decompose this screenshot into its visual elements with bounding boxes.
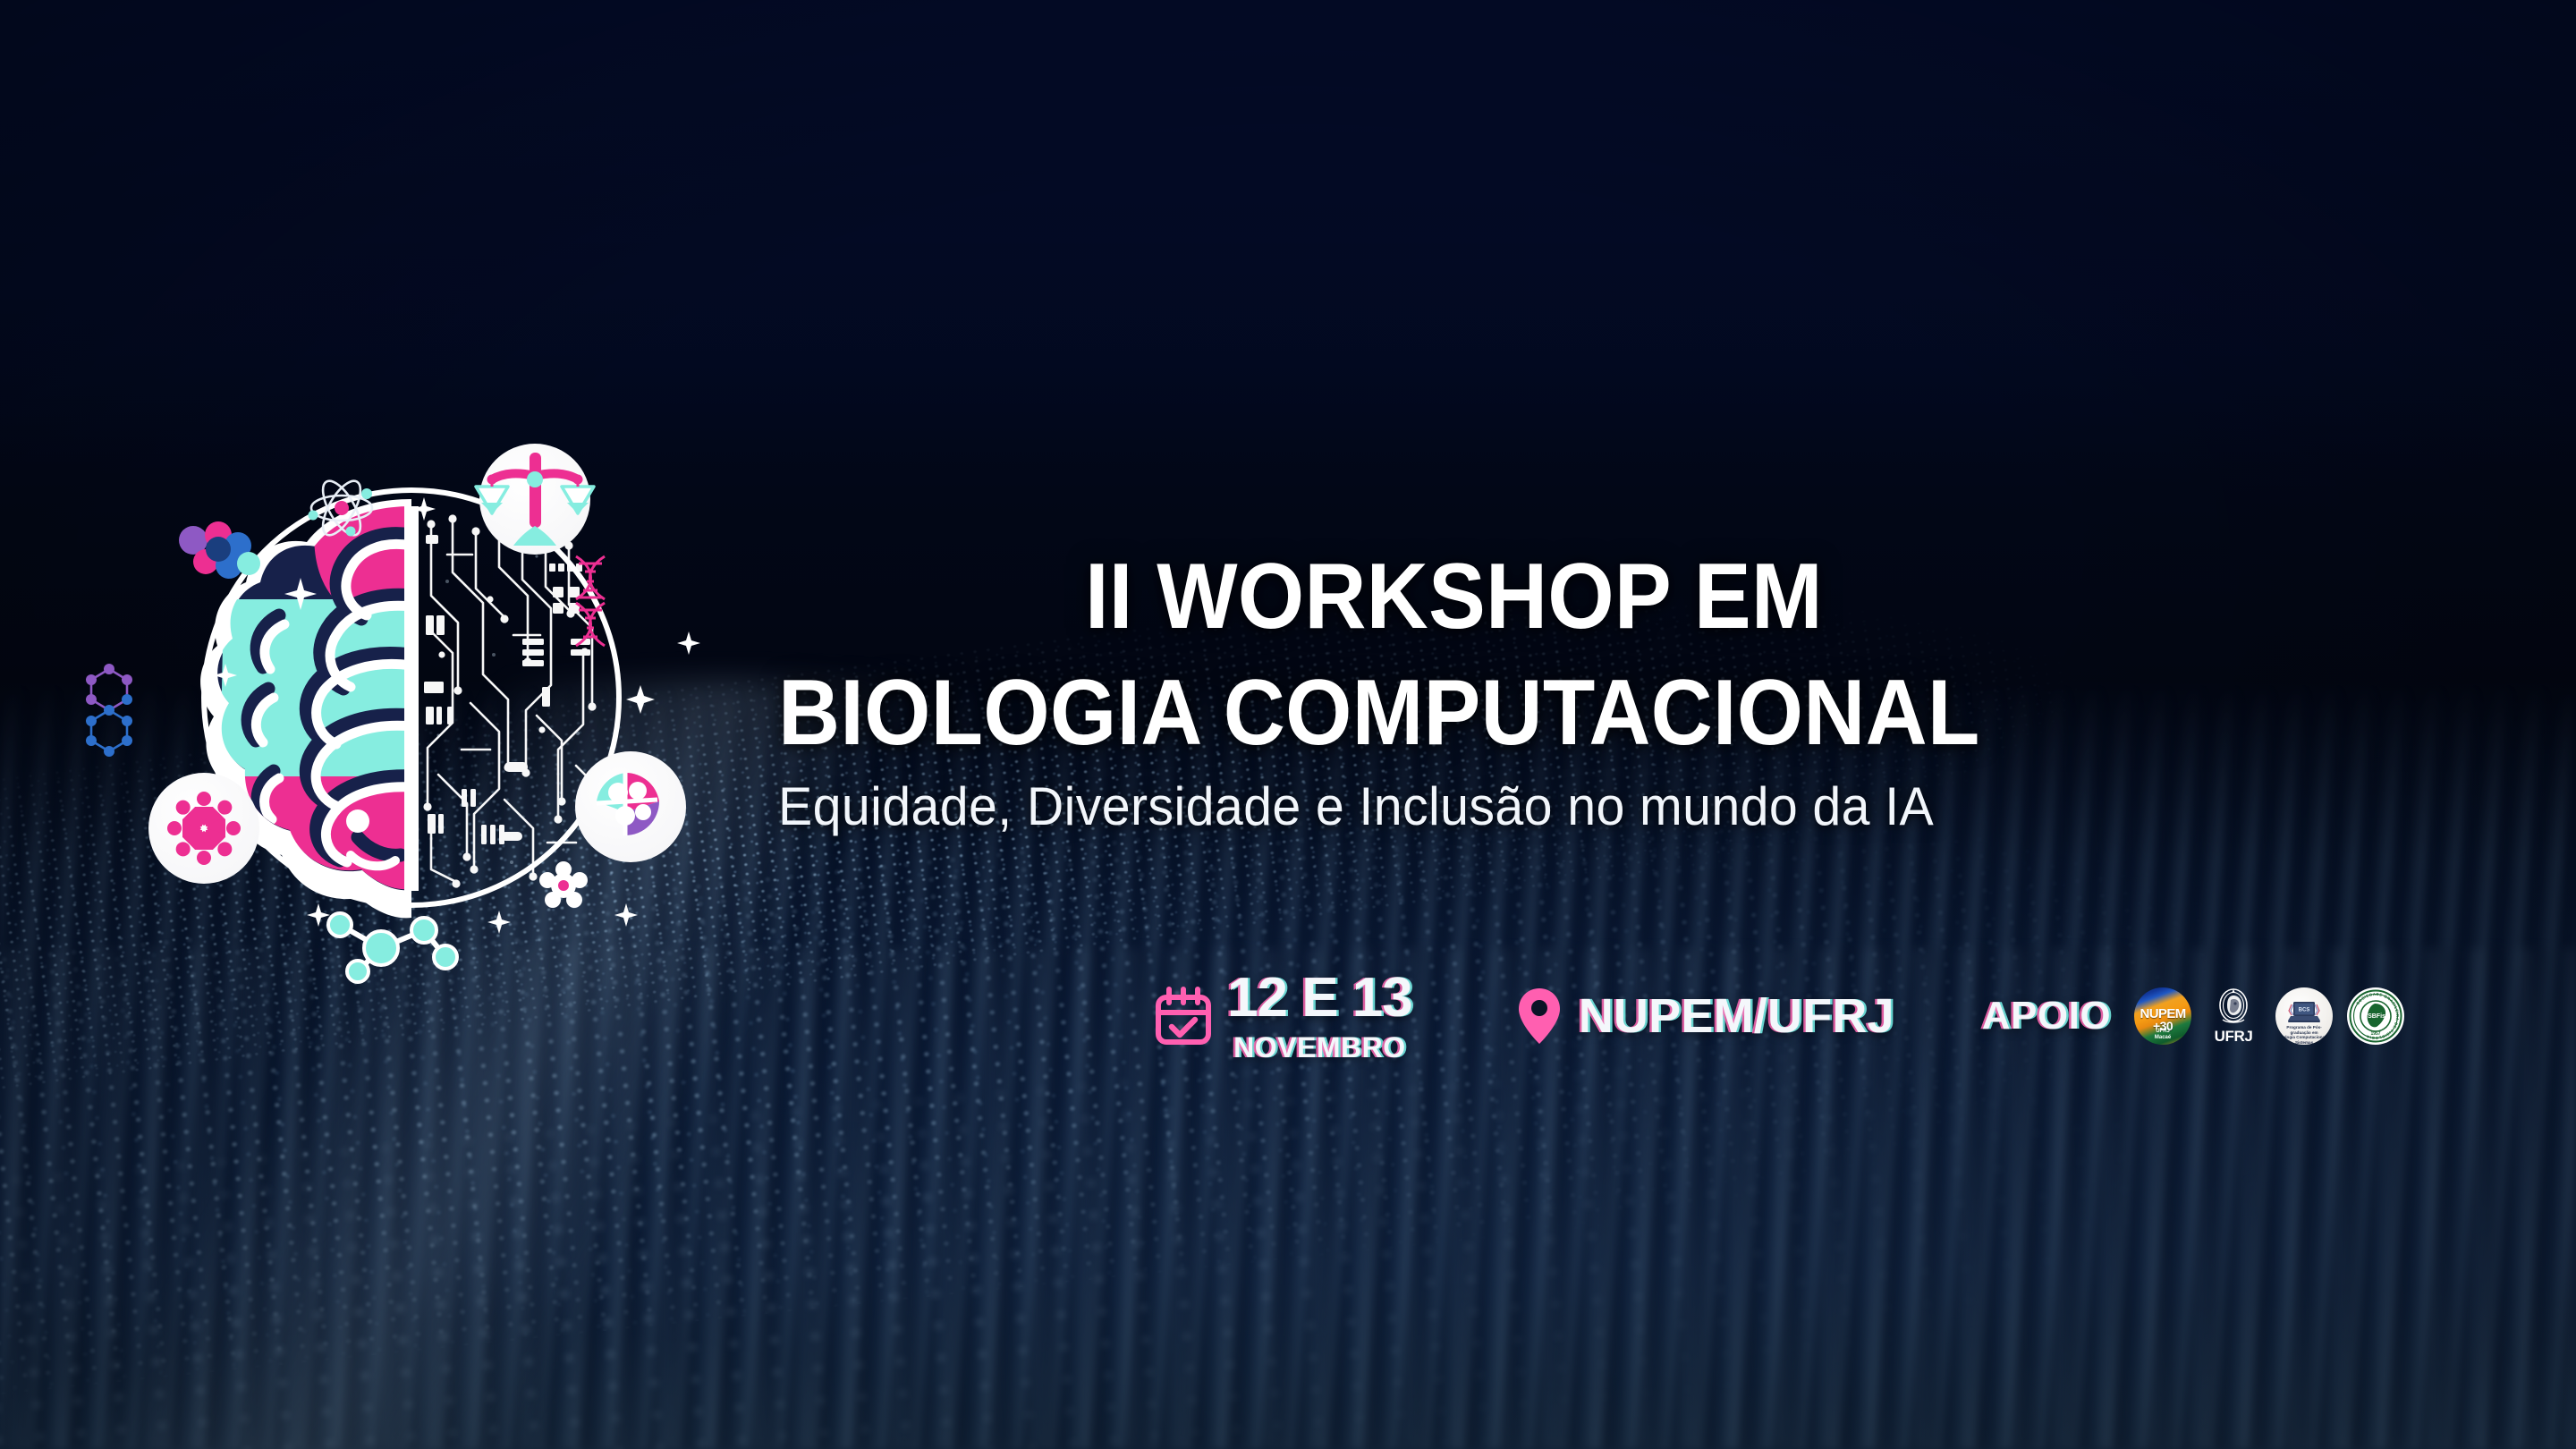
- svg-text:SBFis: SBFis: [2368, 1013, 2385, 1020]
- sponsor-logo-bcs[interactable]: BCS Programa de Pós-graduação emBiologia…: [2275, 987, 2333, 1045]
- cell-cluster-icon: [179, 521, 260, 579]
- event-info-bar: 12 E 13 NOVEMBRO NUPEM/UFRJ APOIO NUPEM …: [1154, 970, 2404, 1062]
- sponsor-logo-nupem[interactable]: NUPEM +30 UFRJMacaé: [2134, 987, 2191, 1045]
- svg-text:BCS: BCS: [2299, 1008, 2310, 1013]
- ufrj-crest-icon: [2216, 987, 2251, 1027]
- event-date-month: NOVEMBRO: [1233, 1033, 1405, 1062]
- sponsor-logo-ufrj[interactable]: UFRJ: [2206, 987, 2261, 1046]
- sponsor-logo-nupem-sub: UFRJMacaé: [2134, 1029, 2191, 1040]
- sbfis-seal-icon: SOCIEDADE BRASILEIRA DE FISIOLOGIA SBFis…: [2347, 987, 2404, 1045]
- virus-icon: [539, 861, 588, 908]
- background-top-fade: [0, 0, 2576, 465]
- svg-text:1957: 1957: [2371, 1031, 2381, 1037]
- sponsors-label: APOIO: [1982, 994, 2111, 1038]
- event-location-group: NUPEM/UFRJ: [1518, 987, 1894, 1046]
- sponsor-logo-ufrj-name: UFRJ: [2215, 1028, 2253, 1046]
- event-date-days: 12 E 13: [1227, 970, 1412, 1026]
- calendar-check-icon: [1154, 986, 1213, 1046]
- laptop-icon: BCS: [2288, 1001, 2320, 1023]
- puzzle-pieces-icon: [575, 751, 686, 862]
- sponsor-logo-list: NUPEM +30 UFRJMacaé UFRJ: [2134, 987, 2404, 1046]
- event-date-group: 12 E 13 NOVEMBRO: [1154, 970, 1412, 1062]
- event-date-text: 12 E 13 NOVEMBRO: [1227, 970, 1412, 1062]
- molecule-hexagon-icon: [86, 664, 132, 757]
- scales-of-justice-icon: [476, 444, 594, 555]
- sponsors-group: APOIO NUPEM +30 UFRJMacaé: [1982, 987, 2404, 1046]
- event-location-name: NUPEM/UFRJ: [1579, 988, 1894, 1044]
- sponsor-logo-sbfis[interactable]: SOCIEDADE BRASILEIRA DE FISIOLOGIA SBFis…: [2347, 987, 2404, 1045]
- title-line-1: II WORKSHOP EM: [1085, 550, 2284, 643]
- title-block: II WORKSHOP EM BIOLOGIA COMPUTACIONAL Eq…: [778, 550, 2388, 837]
- title-line-2: BIOLOGIA COMPUTACIONAL: [778, 666, 2259, 759]
- brain-circuit-emblem: [143, 420, 698, 975]
- sponsor-logo-bcs-caption: Programa de Pós-graduação emBiologia Com…: [2278, 1025, 2330, 1045]
- map-pin-icon: [1518, 987, 1561, 1046]
- circuit-board-illustration: [423, 511, 603, 887]
- diversity-people-circle-icon: [148, 773, 259, 884]
- event-poster: II WORKSHOP EM BIOLOGIA COMPUTACIONAL Eq…: [0, 0, 2576, 1449]
- molecule-node-chain-icon: [328, 913, 457, 982]
- event-subtitle: Equidade, Diversidade e Inclusão no mund…: [778, 775, 2316, 837]
